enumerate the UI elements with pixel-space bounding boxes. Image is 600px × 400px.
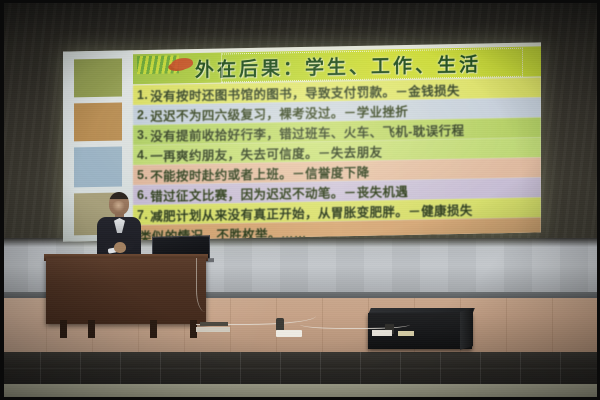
speaker-cabinet-side bbox=[460, 308, 473, 350]
slide-content-area: 外在后果：学生、工作、生活 1. 没有按时还图书馆的图书，导致支付罚款。－金钱损… bbox=[133, 42, 541, 240]
bullet-number: 1. bbox=[137, 88, 148, 102]
bullet-number: 5. bbox=[137, 168, 148, 182]
stage-object bbox=[372, 330, 392, 336]
lectern-leg bbox=[150, 320, 157, 338]
photo-border-top bbox=[0, 0, 600, 3]
stage-object bbox=[200, 322, 228, 326]
stage-object bbox=[196, 327, 230, 332]
olive-swatch bbox=[74, 58, 122, 97]
lectern-leg bbox=[88, 320, 95, 338]
stage-object bbox=[398, 331, 414, 336]
tan-swatch bbox=[74, 102, 122, 141]
lectern-leg bbox=[60, 320, 67, 338]
stage-object bbox=[276, 318, 284, 330]
blue-swatch bbox=[74, 146, 122, 187]
title-selection-outline bbox=[221, 48, 523, 83]
bullet-number: 3. bbox=[137, 128, 148, 142]
power-strip bbox=[276, 330, 302, 337]
presenter-face bbox=[112, 201, 125, 212]
hanging-cable bbox=[196, 258, 219, 312]
wooden-lectern bbox=[46, 258, 206, 324]
bullet-number: 2. bbox=[137, 108, 148, 122]
bullet-number: 4. bbox=[137, 148, 148, 162]
presenter-hand bbox=[114, 242, 126, 253]
lecture-hall-photograph: 外在后果：学生、工作、生活 1. 没有按时还图书馆的图书，导致支付罚款。－金钱损… bbox=[0, 0, 600, 400]
photo-border-left bbox=[0, 0, 4, 400]
stage-front-tiles bbox=[0, 352, 600, 386]
